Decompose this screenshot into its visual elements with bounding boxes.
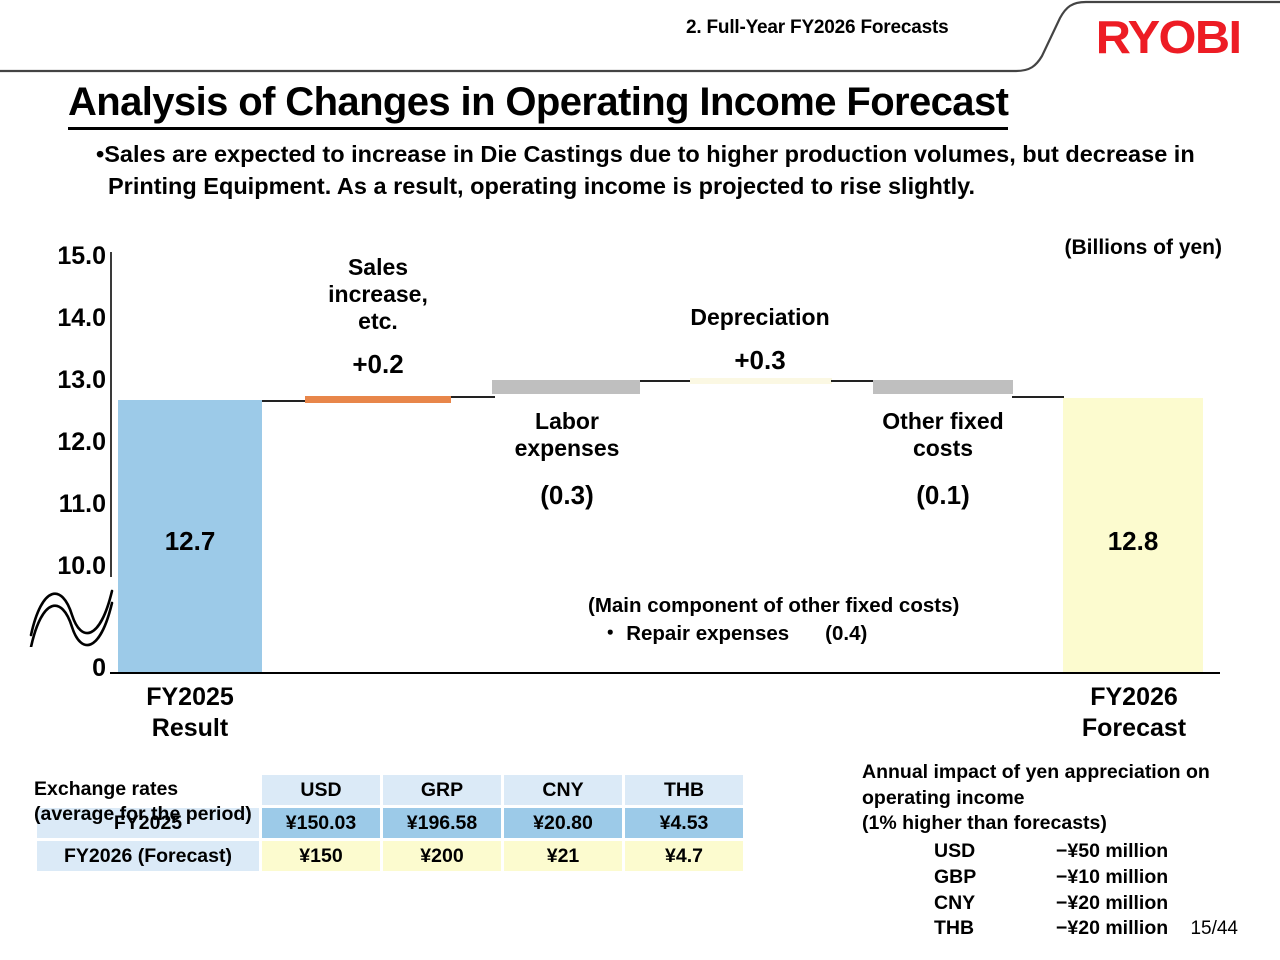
summary-bullet: •Sales are expected to increase in Die C…: [96, 138, 1231, 202]
x-axis-line: [110, 672, 1220, 674]
category-label-fy2025-line1: FY2025: [98, 682, 282, 713]
bar-fy2025-result: 12.7: [118, 400, 262, 672]
segment-label-sales-increase: Sales increase, etc. +0.2: [300, 254, 456, 380]
fx-cell-fy2025-cny: ¥20.80: [504, 808, 622, 838]
y-tick-11: 11.0: [14, 490, 106, 519]
y-tick-14: 14.0: [14, 304, 106, 333]
slide-header: 2. Full-Year FY2026 Forecasts RYOBI: [0, 0, 1280, 72]
segment-delta-sales-increase: +0.2: [300, 349, 456, 380]
y-tick-15: 15.0: [14, 242, 106, 271]
impact-value-gbp: −¥10 million: [1056, 865, 1168, 891]
segment-label-labor-expenses-line1: Labor: [488, 408, 646, 435]
bar-value-fy2026: 12.8: [1063, 526, 1203, 557]
category-label-fy2025-line2: Result: [98, 713, 282, 744]
waterfall-chart: (Billions of yen) 15.0 14.0 13.0 12.0 11…: [0, 232, 1280, 682]
impact-value-usd: −¥50 million: [1056, 839, 1168, 865]
yen-appreciation-impact: Annual impact of yen appreciation on ope…: [862, 760, 1262, 942]
y-axis-line: [110, 252, 112, 577]
segment-label-other-fixed-costs-line2: costs: [862, 435, 1024, 462]
page-title: Analysis of Changes in Operating Income …: [68, 80, 1008, 130]
connector-2: [451, 396, 495, 398]
chart-note-line2-value: (0.4): [789, 620, 867, 648]
chart-note-line1: (Main component of other fixed costs): [588, 592, 1058, 620]
fx-cell-fy2026-thb: ¥4.7: [625, 841, 743, 871]
segment-delta-labor-expenses: (0.3): [488, 480, 646, 511]
segment-label-depreciation: Depreciation +0.3: [660, 304, 860, 376]
category-label-fy2026-line1: FY2026: [1040, 682, 1228, 713]
segment-label-sales-increase-line2: increase,: [300, 281, 456, 308]
impact-currency-gbp: GBP: [934, 865, 1056, 891]
chart-note-line2: ・ Repair expenses(0.4): [588, 620, 1058, 648]
fx-col-header-cny: CNY: [504, 775, 622, 805]
chart-note: (Main component of other fixed costs) ・ …: [588, 592, 1058, 647]
exchange-rates-caption-line2: (average for the period): [34, 802, 296, 827]
exchange-rates-caption: Exchange rates (average for the period): [34, 777, 296, 828]
fx-cell-fy2025-thb: ¥4.53: [625, 808, 743, 838]
header-divider-shape: [0, 0, 1280, 76]
page-number: 15/44: [1190, 918, 1238, 940]
category-label-fy2026: FY2026 Forecast: [1040, 682, 1228, 743]
impact-currency-thb: THB: [934, 916, 1056, 942]
segment-label-sales-increase-line1: Sales: [300, 254, 456, 281]
bar-depreciation: [690, 378, 832, 384]
ryobi-logo: RYOBI: [1095, 10, 1240, 64]
fx-row-label-fy2026: FY2026 (Forecast): [37, 841, 259, 871]
fx-col-header-grp: GRP: [383, 775, 501, 805]
impact-value-thb: −¥20 million: [1056, 916, 1168, 942]
connector-1: [262, 400, 306, 402]
fx-cell-fy2026-cny: ¥21: [504, 841, 622, 871]
slide: 2. Full-Year FY2026 Forecasts RYOBI Anal…: [0, 0, 1280, 960]
y-tick-0: 0: [14, 654, 106, 683]
axis-break-icon: [28, 575, 120, 647]
y-tick-12: 12.0: [14, 428, 106, 457]
segment-label-sales-increase-line3: etc.: [300, 308, 456, 335]
connector-3: [640, 380, 692, 382]
impact-value-cny: −¥20 million: [1056, 891, 1168, 917]
impact-heading-line1: Annual impact of yen appreciation on: [862, 760, 1262, 786]
fx-cell-fy2026-usd: ¥150: [262, 841, 380, 871]
bar-labor-expenses: [492, 380, 640, 394]
fx-row-fy2026: FY2026 (Forecast) ¥150 ¥200 ¥21 ¥4.7: [37, 841, 743, 871]
bar-sales-increase: [305, 396, 451, 403]
chart-note-line2-label: ・ Repair expenses: [600, 622, 789, 645]
section-title: 2. Full-Year FY2026 Forecasts: [686, 17, 948, 39]
segment-delta-other-fixed-costs: (0.1): [862, 480, 1024, 511]
fx-col-header-thb: THB: [625, 775, 743, 805]
chart-unit-label: (Billions of yen): [1065, 236, 1223, 260]
segment-label-other-fixed-costs: Other fixed costs (0.1): [862, 408, 1024, 511]
category-label-fy2025: FY2025 Result: [98, 682, 282, 743]
exchange-rates-table: Exchange rates (average for the period) …: [34, 772, 746, 874]
impact-row-cny: CNY −¥20 million: [862, 891, 1262, 917]
bar-fy2026-forecast: 12.8: [1063, 398, 1203, 672]
impact-heading-line2: operating income: [862, 786, 1262, 812]
category-label-fy2026-line2: Forecast: [1040, 713, 1228, 744]
impact-row-gbp: GBP −¥10 million: [862, 865, 1262, 891]
y-tick-13: 13.0: [14, 366, 106, 395]
impact-row-usd: USD −¥50 million: [862, 839, 1262, 865]
connector-5: [1012, 396, 1064, 398]
bar-other-fixed-costs: [873, 380, 1013, 394]
impact-currency-usd: USD: [934, 839, 1056, 865]
segment-label-labor-expenses: Labor expenses (0.3): [488, 408, 646, 511]
exchange-rates-caption-line1: Exchange rates: [34, 777, 296, 802]
impact-heading-line3: (1% higher than forecasts): [862, 811, 1262, 837]
segment-label-other-fixed-costs-line1: Other fixed: [862, 408, 1024, 435]
segment-label-depreciation-line1: Depreciation: [660, 304, 860, 331]
connector-4: [831, 380, 877, 382]
fx-cell-fy2025-grp: ¥196.58: [383, 808, 501, 838]
segment-label-labor-expenses-line2: expenses: [488, 435, 646, 462]
segment-delta-depreciation: +0.3: [660, 345, 860, 376]
impact-currency-cny: CNY: [934, 891, 1056, 917]
fx-cell-fy2026-grp: ¥200: [383, 841, 501, 871]
bar-value-fy2025: 12.7: [118, 526, 262, 557]
